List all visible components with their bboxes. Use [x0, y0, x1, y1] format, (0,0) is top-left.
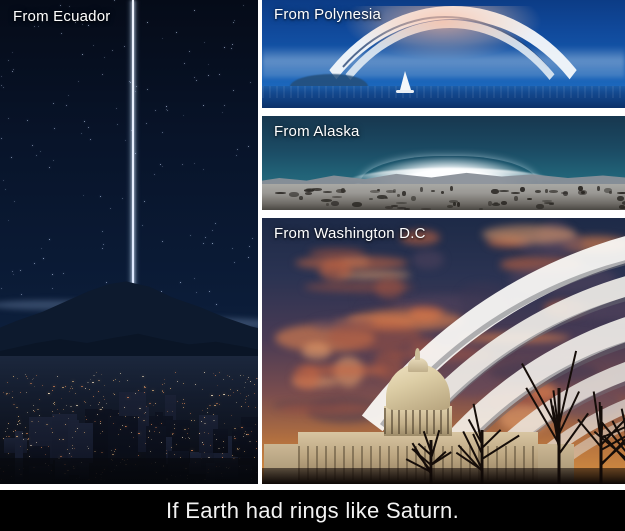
panel-label-alaska: From Alaska — [274, 123, 360, 140]
panel-ecuador: From Ecuador — [0, 0, 258, 484]
ecuador-foreground — [0, 458, 258, 484]
dc-statue-of-freedom — [415, 348, 420, 360]
panel-label-ecuador: From Ecuador — [13, 8, 110, 25]
panel-alaska: From Alaska — [262, 116, 625, 210]
meme-image: From Ecuador From Polynesia From Alaska — [0, 0, 625, 531]
polynesia-sailboat-sail — [400, 71, 411, 90]
dc-foreground — [262, 468, 625, 484]
caption-bar: If Earth had rings like Saturn. — [0, 490, 625, 531]
dc-capitol-lantern — [408, 358, 428, 372]
panel-polynesia: From Polynesia — [262, 0, 625, 108]
panel-washington-dc: From Washington D.C — [262, 218, 625, 484]
polynesia-sailboat-hull — [396, 90, 414, 93]
polynesia-ocean-sparkle — [262, 86, 625, 98]
dc-capitol-drum-columns — [384, 408, 452, 434]
alaska-tundra-plain — [262, 184, 625, 210]
caption-text: If Earth had rings like Saturn. — [166, 498, 459, 524]
panel-label-washington-dc: From Washington D.C — [274, 225, 426, 242]
panel-label-polynesia: From Polynesia — [274, 6, 381, 23]
